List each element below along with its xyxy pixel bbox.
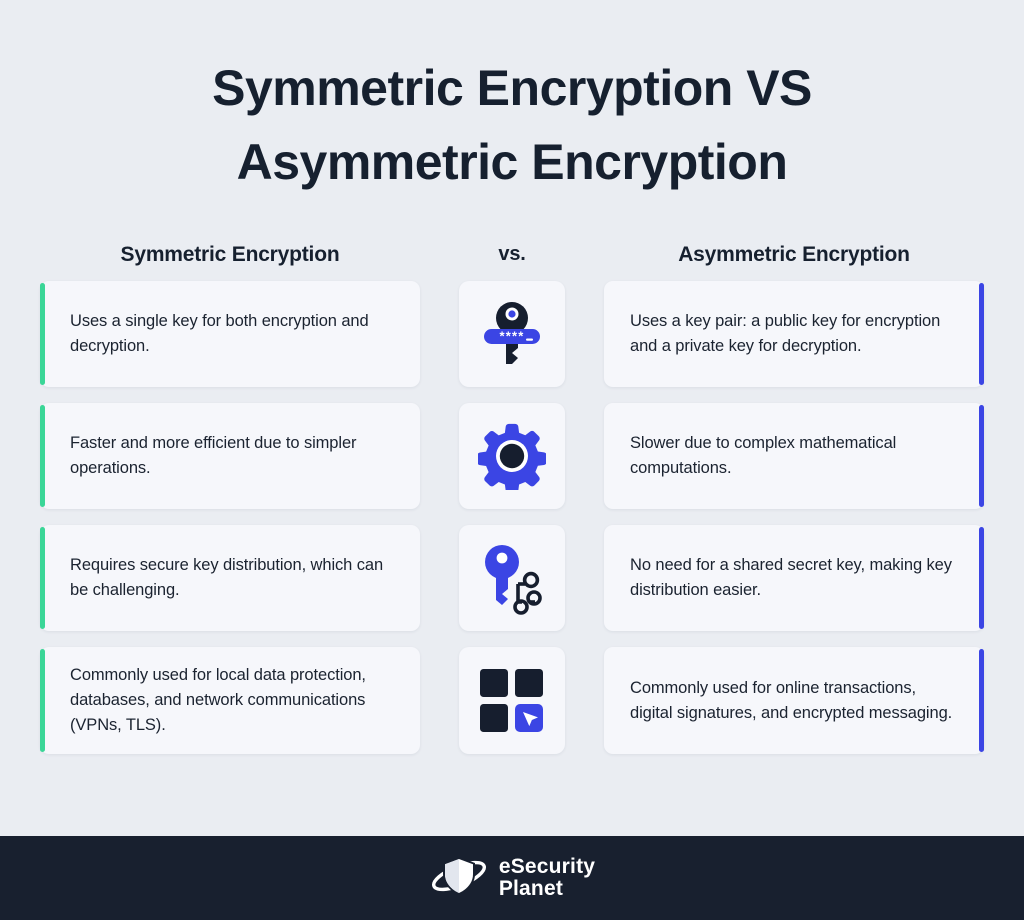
comparison-card-left: Requires secure key distribution, which … [40, 525, 420, 631]
right-accent-bar [979, 405, 984, 507]
footer-bar: eSecurity Planet [0, 836, 1024, 920]
right-accent-bar [979, 527, 984, 629]
comparison-text: No need for a shared secret key, making … [630, 553, 954, 603]
column-header-asymmetric: Asymmetric Encryption [604, 243, 984, 267]
column-header-vs: vs. [438, 243, 586, 267]
comparison-card-left: Uses a single key for both encryption an… [40, 281, 420, 387]
comparison-card-right: No need for a shared secret key, making … [604, 525, 984, 631]
app-grid-cursor-icon [479, 668, 545, 734]
comparison-text: Uses a single key for both encryption an… [70, 309, 398, 359]
left-accent-bar [40, 527, 45, 629]
shield-planet-icon [429, 855, 489, 902]
page-title-line-1: Symmetric Encryption VS [212, 60, 812, 116]
left-accent-bar [40, 649, 45, 752]
comparison-text: Faster and more efficient due to simpler… [70, 431, 398, 481]
brand-logo-text: eSecurity Planet [499, 856, 595, 899]
icon-tile: **** [459, 281, 565, 387]
comparison-card-right: Slower due to complex mathematical compu… [604, 403, 984, 509]
comparison-card-right: Uses a key pair: a public key for encryp… [604, 281, 984, 387]
comparison-card-left: Commonly used for local data protection,… [40, 647, 420, 754]
comparison-card-left: Faster and more efficient due to simpler… [40, 403, 420, 509]
comparison-text: Uses a key pair: a public key for encryp… [630, 309, 954, 359]
key-network-icon [477, 541, 547, 615]
title-block: Symmetric Encryption VS Asymmetric Encry… [0, 0, 1024, 199]
icon-tile [459, 647, 565, 754]
icon-tile [459, 403, 565, 509]
comparison-text: Commonly used for online transactions, d… [630, 676, 954, 726]
comparison-text: Commonly used for local data protection,… [70, 663, 398, 738]
column-header-symmetric: Symmetric Encryption [40, 243, 420, 267]
svg-text:****: **** [499, 328, 524, 343]
key-password-icon: **** [481, 297, 543, 371]
right-accent-bar [979, 283, 984, 385]
comparison-grid: Uses a single key for both encryption an… [0, 281, 1024, 754]
right-accent-bar [979, 649, 984, 752]
gear-icon [478, 422, 546, 490]
comparison-text: Requires secure key distribution, which … [70, 553, 398, 603]
page-title: Symmetric Encryption VS Asymmetric Encry… [70, 52, 954, 199]
left-accent-bar [40, 405, 45, 507]
comparison-card-right: Commonly used for online transactions, d… [604, 647, 984, 754]
brand-logo-line-1: eSecurity [499, 855, 595, 878]
icon-tile [459, 525, 565, 631]
comparison-text: Slower due to complex mathematical compu… [630, 431, 954, 481]
column-headers: Symmetric Encryption vs. Asymmetric Encr… [0, 243, 1024, 267]
brand-logo: eSecurity Planet [429, 855, 595, 902]
page-title-line-2: Asymmetric Encryption [237, 134, 788, 190]
left-accent-bar [40, 283, 45, 385]
brand-logo-line-2: Planet [499, 878, 595, 900]
